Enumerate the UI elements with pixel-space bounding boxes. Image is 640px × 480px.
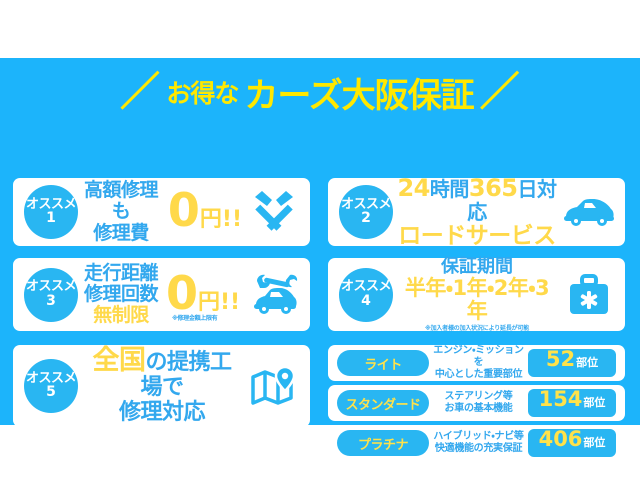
- plan-desc-line2: 中心とした重要部位: [431, 369, 526, 381]
- feature-card-4: オススメ 4 保証期間 半年・1年・2年・3年 ※加入者様の加入状況により延長が…: [328, 258, 625, 331]
- plan-count-value: 52: [546, 349, 575, 370]
- card5-line2: 修理対応: [82, 401, 242, 426]
- card1-line1: 高額修理も: [82, 180, 160, 223]
- plan-description: ステアリング等 お車の基本機能: [429, 391, 528, 415]
- recommend-badge-1: オススメ 1: [24, 185, 78, 239]
- plan-description: ハイブリッド・ナビ等 快適機能の充実保証: [429, 431, 528, 455]
- badge-label: オススメ: [26, 372, 76, 386]
- recommend-badge-5: オススメ 5: [24, 359, 78, 413]
- card2-num1: 24: [397, 174, 429, 202]
- feature-card-2: オススメ 2 24時間365日対応 ロードサービス: [328, 178, 625, 246]
- card4-line2: 半年・1年・2年・3年: [397, 277, 557, 324]
- plan-desc-line1: ステアリング等: [431, 391, 526, 403]
- title-prefix: お得な: [166, 74, 238, 110]
- plan-name-badge: スタンダード: [337, 390, 429, 416]
- plan-count-unit: 部位: [583, 434, 605, 450]
- plan-count-badge: 406 部位: [528, 429, 616, 457]
- recommend-badge-4: オススメ 4: [339, 268, 393, 322]
- plan-desc-line1: エンジン・ミッションを: [431, 345, 526, 369]
- feature-card-3: オススメ 3 走行距離 修理回数 無制限 0 円!! ※修理金額上限有: [13, 258, 310, 331]
- plan-row: スタンダード ステアリング等 お車の基本機能 154 部位: [328, 385, 625, 421]
- card2-line2: ロードサービス: [397, 224, 557, 250]
- car-wrench-icon: [246, 271, 302, 319]
- badge-number: 5: [46, 385, 56, 400]
- card3-line1: 走行距離: [84, 263, 158, 284]
- plan-count-unit: 部位: [583, 394, 605, 410]
- plan-name-badge: プラチナ: [337, 430, 429, 456]
- recommend-badge-3: オススメ 3: [24, 268, 78, 322]
- badge-label: オススメ: [341, 198, 391, 212]
- toolbox-icon: [561, 274, 617, 316]
- card3-amount: 0: [166, 273, 198, 314]
- card3-amount-unit: 円!!: [198, 284, 240, 316]
- badge-label: オススメ: [26, 198, 76, 212]
- card1-amount-unit: 円!!: [200, 201, 242, 233]
- badge-number: 3: [46, 294, 56, 309]
- plan-desc-line2: 快適機能の充実保証: [431, 443, 526, 455]
- card2-mid1: 時間: [430, 177, 469, 201]
- feature-card-1: オススメ 1 高額修理も 修理費 0 円!!: [13, 178, 310, 246]
- title-slash-right: ／: [480, 72, 520, 112]
- badge-label: オススメ: [341, 280, 391, 294]
- plan-count-badge: 52 部位: [528, 349, 616, 377]
- card4-line1: 保証期間: [397, 257, 557, 277]
- title-slash-left: ＼: [120, 72, 160, 112]
- plan-desc-line2: お車の基本機能: [431, 403, 526, 415]
- card5-line1-rest: の提携工場で: [140, 350, 231, 400]
- plan-count-unit: 部位: [576, 354, 598, 370]
- plan-count-badge: 154 部位: [528, 389, 616, 417]
- plan-row: ライト エンジン・ミッションを 中心とした重要部位 52 部位: [328, 345, 625, 381]
- card3-line3: 無制限: [84, 305, 158, 326]
- promo-banner: ＼ お得な カーズ大阪保証 ／ オススメ 1 高額修理も 修理費 0 円!!: [0, 58, 640, 425]
- badge-number: 2: [361, 211, 371, 226]
- feature-card-5: オススメ 5 全国の提携工場で 修理対応: [13, 345, 310, 427]
- card1-line2: 修理費: [82, 223, 160, 244]
- card3-note: ※修理金額上限有: [172, 313, 217, 322]
- map-pin-icon: [246, 365, 302, 407]
- badge-label: オススメ: [26, 280, 76, 294]
- card1-amount: 0: [168, 190, 200, 231]
- card3-line2: 修理回数: [84, 284, 158, 305]
- plan-description: エンジン・ミッションを 中心とした重要部位: [429, 345, 528, 380]
- plan-row: プラチナ ハイブリッド・ナビ等 快適機能の充実保証 406 部位: [328, 425, 625, 461]
- recommend-badge-2: オススメ 2: [339, 185, 393, 239]
- badge-number: 1: [46, 211, 56, 226]
- card5-highlight: 全国: [92, 345, 145, 376]
- card2-num2: 365: [469, 174, 518, 202]
- title-main: カーズ大阪保証: [244, 68, 473, 117]
- car-icon: [561, 197, 617, 227]
- plan-name-badge: ライト: [337, 350, 429, 376]
- crossed-hammers-icon: [246, 190, 302, 234]
- badge-number: 4: [361, 294, 371, 309]
- plan-desc-line1: ハイブリッド・ナビ等: [431, 431, 526, 443]
- card4-note: ※加入者様の加入状況により延長が可能: [397, 326, 557, 333]
- banner-title: ＼ お得な カーズ大阪保証 ／: [0, 68, 640, 116]
- plan-count-value: 154: [539, 389, 583, 410]
- plan-count-value: 406: [539, 429, 583, 450]
